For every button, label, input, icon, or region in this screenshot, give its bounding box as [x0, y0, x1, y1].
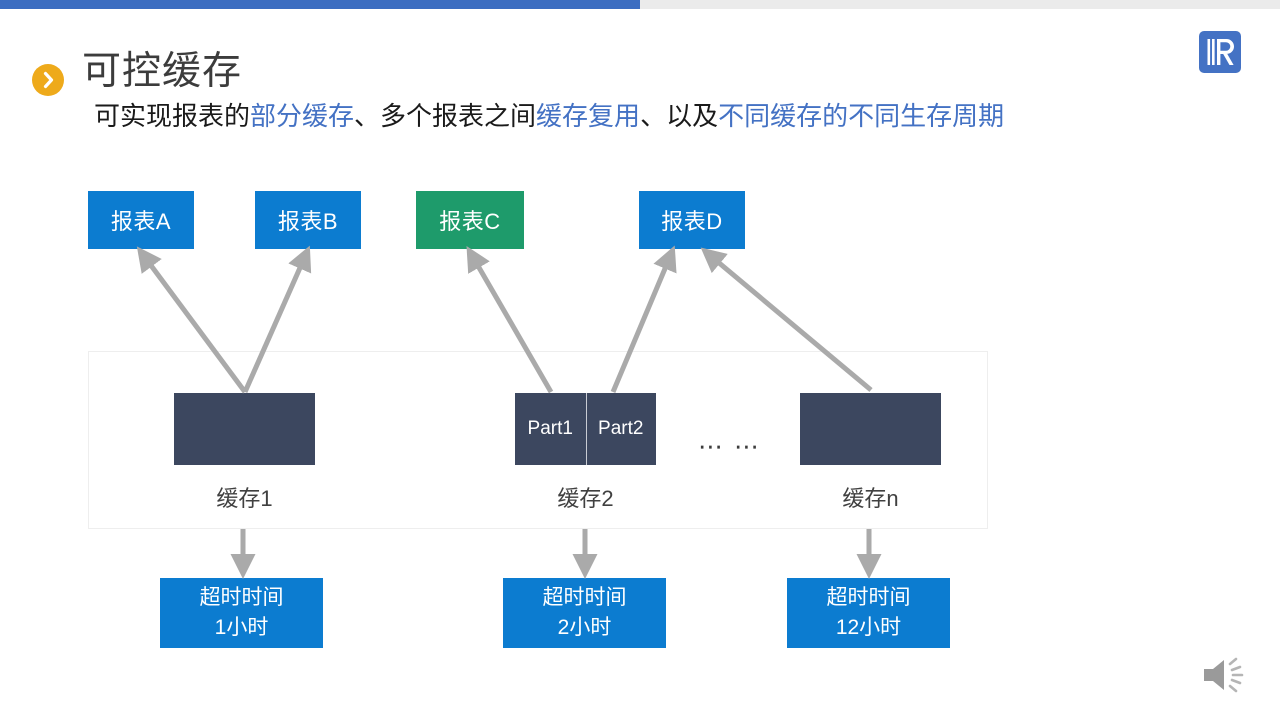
cache-caption: 缓存n	[760, 481, 981, 513]
slide-progress-bar[interactable]	[0, 0, 1280, 9]
cache-part-divider	[586, 393, 587, 465]
report-box-label: 报表C	[439, 204, 500, 236]
report-box: 报表A	[88, 191, 194, 249]
cache-part-label: Part2	[586, 393, 657, 465]
page-title: 可控缓存	[82, 49, 242, 96]
subtitle-segment-4: 、以及	[640, 101, 718, 131]
report-box: 报表B	[255, 191, 361, 249]
subtitle-segment-0: 可实现报表的	[94, 101, 250, 131]
timeout-label-line2: 12小时	[836, 613, 901, 643]
brand-logo-r-icon	[1198, 30, 1242, 74]
slide-progress-fill	[0, 0, 640, 9]
cache-caption: 缓存1	[134, 481, 355, 513]
timeout-label-line2: 2小时	[558, 613, 612, 643]
report-box-label: 报表B	[278, 204, 338, 236]
subtitle-segment-3: 缓存复用	[536, 101, 640, 131]
speaker-volume-icon[interactable]	[1198, 652, 1254, 698]
subtitle-segment-5: 不同缓存的不同生存周期	[718, 101, 1004, 131]
timeout-box: 超时时间1小时	[160, 578, 323, 648]
cache-box	[174, 393, 315, 465]
cache-box	[800, 393, 941, 465]
cache-caption: 缓存2	[475, 481, 696, 513]
timeout-label-line2: 1小时	[215, 613, 269, 643]
chevron-right-icon	[32, 64, 64, 96]
slide-header: 可控缓存	[0, 22, 1280, 92]
subtitle-segment-1: 部分缓存	[250, 101, 354, 131]
timeout-label-line1: 超时时间	[200, 583, 284, 613]
slide-subtitle: 可实现报表的部分缓存、多个报表之间缓存复用、以及不同缓存的不同生存周期	[94, 99, 1004, 134]
timeout-label-line1: 超时时间	[543, 583, 627, 613]
subtitle-segment-2: 、多个报表之间	[354, 101, 536, 131]
cache-box: Part1Part2	[515, 393, 656, 465]
cache-ellipsis: ⋯ ⋯	[698, 432, 761, 462]
cache-part-label: Part1	[515, 393, 586, 465]
timeout-label-line1: 超时时间	[827, 583, 911, 613]
timeout-box: 超时时间2小时	[503, 578, 666, 648]
report-box: 报表C	[416, 191, 524, 249]
timeout-box: 超时时间12小时	[787, 578, 950, 648]
report-box: 报表D	[639, 191, 745, 249]
report-box-label: 报表A	[111, 204, 171, 236]
report-box-label: 报表D	[661, 204, 722, 236]
